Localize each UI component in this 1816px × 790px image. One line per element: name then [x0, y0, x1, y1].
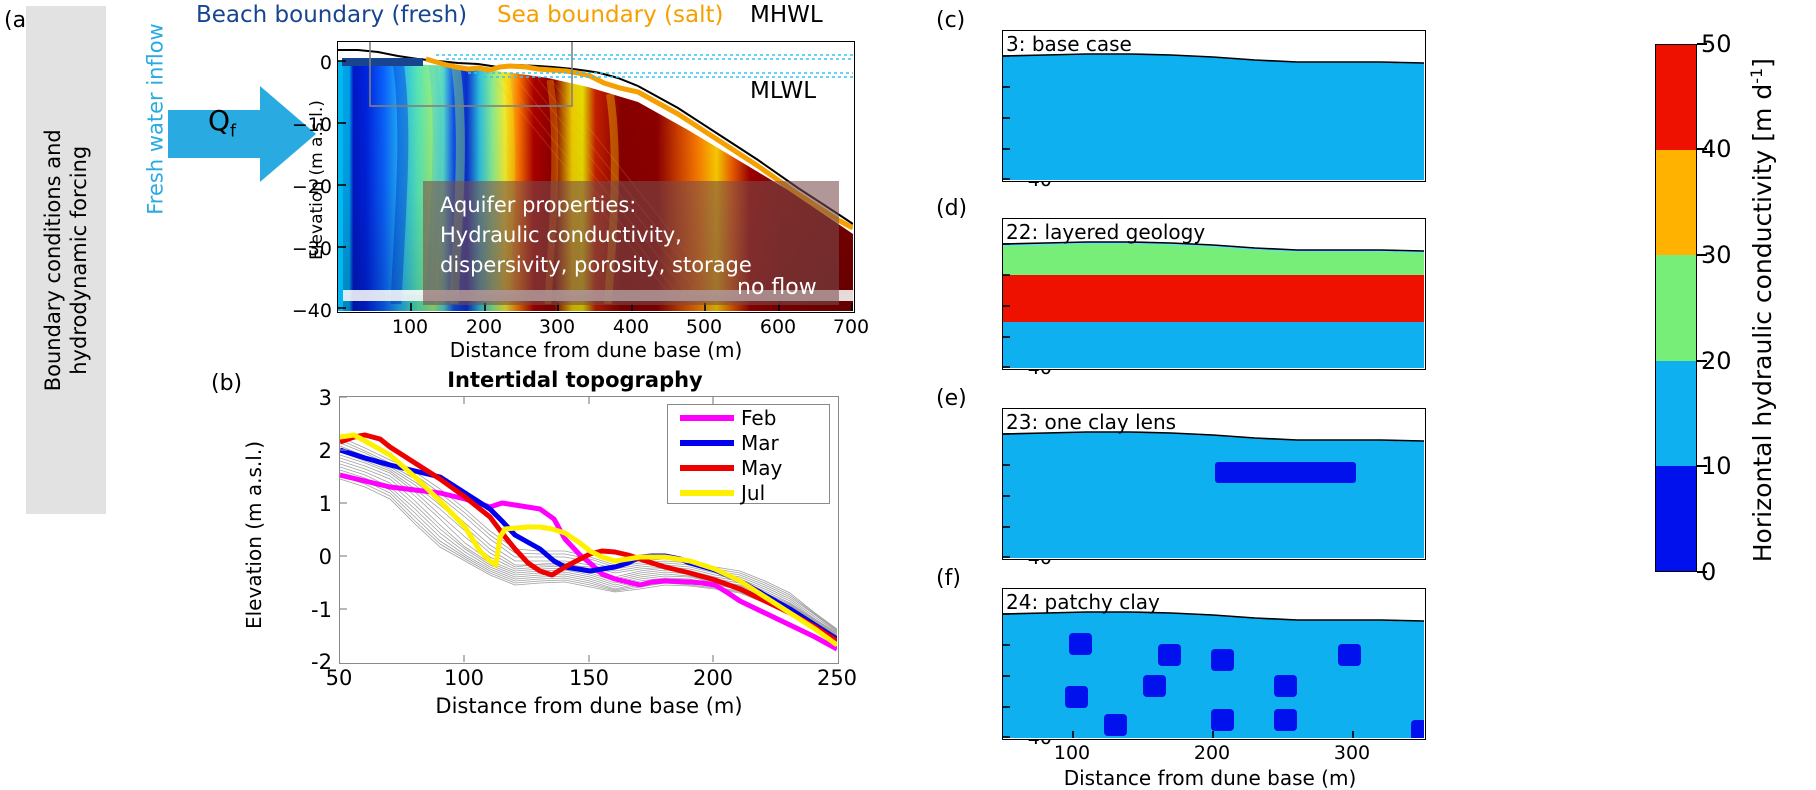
legend-item[interactable]: May — [668, 455, 829, 480]
no-flow-label: no flow — [737, 275, 817, 300]
panel-b-ytick: 3 — [284, 386, 332, 410]
panel-a-xtick: 400 — [601, 316, 661, 338]
legend-item[interactable]: Mar — [668, 430, 829, 455]
colorbar-tick: 10 — [1701, 452, 1732, 480]
panel-d-scenario-tag: 22: layered geology — [1006, 220, 1205, 244]
panel-b-ytick-group: 3 2 1 0 -1 -2 — [276, 396, 332, 664]
panel-b-xtick: 200 — [681, 666, 745, 690]
aquifer-overlay-line1: Aquifer properties: — [440, 191, 839, 221]
panel-c-scenario-tag: 3: base case — [1006, 32, 1132, 56]
panel-b-xlabel: Distance from dune base (m) — [389, 694, 789, 718]
panel-f-xtick-group: 100 200 300 — [1002, 742, 1426, 768]
clay-patch — [1065, 686, 1088, 708]
panel-a-ytick: −40 — [288, 300, 332, 322]
panel-f-xtick: 200 — [1182, 742, 1242, 764]
legend-swatch-may — [680, 465, 734, 471]
legend-label: May — [741, 456, 782, 480]
panel-f-plot-area: 24: patchy clay — [1002, 588, 1426, 740]
panel-b-ylabel: Elevation (m a.s.l.) — [240, 420, 268, 650]
clay-patch — [1143, 675, 1166, 697]
panel-a-ytick-group: 0 −10 −20 −30 −40 — [280, 41, 332, 313]
colorbar-tick: 50 — [1701, 30, 1732, 58]
panel-b-ytick: 0 — [284, 545, 332, 569]
clay-patch — [1274, 675, 1297, 697]
fresh-water-inflow-text: Fresh water inflow — [144, 23, 168, 214]
panel-b-title: Intertidal topography — [365, 368, 785, 392]
legend-item[interactable]: Jul — [668, 480, 829, 505]
panel-c-letter: (c) — [936, 8, 965, 33]
clay-patch — [1158, 644, 1181, 666]
panel-b-legend: Feb Mar May Jul — [667, 404, 830, 504]
panel-d-letter: (d) — [936, 196, 967, 221]
panel-b-ylabel-text: Elevation (m a.s.l.) — [242, 441, 266, 629]
panel-a-xtick: 300 — [527, 316, 587, 338]
legend-swatch-mar — [680, 440, 734, 446]
clay-patch — [1211, 649, 1234, 671]
panel-a-xtick: 500 — [674, 316, 734, 338]
panel-b-ytick: 2 — [284, 439, 332, 463]
panel-f-xtick: 100 — [1042, 742, 1102, 764]
panel-d-plot-area: 22: layered geology — [1002, 218, 1426, 370]
panel-a-xtick: 700 — [821, 316, 881, 338]
colorbar-tick-group: 50 40 30 20 10 0 — [1655, 44, 1755, 572]
colorbar-label-main: Horizontal hydraulic conductivity [m d — [1748, 84, 1777, 562]
panel-f-xtick: 300 — [1322, 742, 1382, 764]
legend-item[interactable]: Feb — [668, 405, 829, 430]
aquifer-overlay-line2: Hydraulic conductivity, — [440, 221, 839, 251]
panel-b-xtick: 250 — [805, 666, 869, 690]
clay-patch — [1211, 709, 1234, 731]
panel-c-plot-area: 3: base case — [1002, 30, 1426, 182]
colorbar-tick: 0 — [1701, 558, 1716, 586]
colorbar-label-exponent: -1 — [1747, 68, 1766, 84]
legend-swatch-jul — [680, 490, 734, 496]
panel-f-scenario-tag: 24: patchy clay — [1006, 590, 1160, 614]
panel-e-scenario-tag: 23: one clay lens — [1006, 410, 1176, 434]
panel-b-xtick: 100 — [432, 666, 496, 690]
inflow-symbol-q: Q — [208, 104, 230, 137]
clay-patch — [1104, 714, 1127, 736]
panel-a-xtick: 600 — [748, 316, 808, 338]
panel-b-xtick-group: 50 100 150 200 250 — [339, 666, 839, 694]
beach-boundary-label: Beach boundary (fresh) — [196, 2, 467, 28]
panel-a-ytick: −30 — [288, 238, 332, 260]
panel-f-xlabel: Distance from dune base (m) — [1000, 766, 1420, 790]
panel-a-xtick: 200 — [454, 316, 514, 338]
colorbar-label-tail: ] — [1748, 58, 1777, 68]
legend-label: Feb — [741, 406, 776, 430]
legend-label: Mar — [741, 431, 779, 455]
panel-e-letter: (e) — [936, 386, 967, 411]
sea-boundary-label: Sea boundary (salt) — [497, 2, 724, 28]
panel-a-ytick: −20 — [288, 176, 332, 198]
panel-f-letter: (f) — [936, 566, 961, 591]
clay-patch — [1069, 633, 1092, 655]
panel-b-xtick: 150 — [557, 666, 621, 690]
side-caption-line2: hydrodynamic forcing — [67, 146, 91, 375]
side-caption-line1: Boundary conditions and — [41, 129, 65, 391]
legend-label: Jul — [741, 481, 765, 505]
inflow-symbol: Qf — [208, 104, 236, 142]
inflow-symbol-sub: f — [230, 122, 236, 142]
panel-b-letter: (b) — [211, 371, 242, 396]
panel-e-plot-area: 23: one clay lens — [1002, 408, 1426, 560]
colorbar-label: Horizontal hydraulic conductivity [m d-1… — [1742, 40, 1782, 580]
clay-patch — [1338, 644, 1361, 666]
boundary-conditions-caption-block: Boundary conditions and hydrodynamic for… — [26, 6, 106, 514]
mhwl-label: MHWL — [750, 2, 823, 28]
clay-patch — [1274, 709, 1297, 731]
colorbar-tick: 20 — [1701, 347, 1732, 375]
legend-swatch-feb — [680, 415, 734, 421]
panel-a-ytick: −10 — [288, 114, 332, 136]
panel-b-ytick: -1 — [284, 598, 332, 622]
colorbar-tick: 30 — [1701, 241, 1732, 269]
panel-a-ytick: 0 — [288, 52, 332, 74]
panel-a-xtick: 100 — [380, 316, 440, 338]
panel-b-xtick: 50 — [307, 666, 371, 690]
clay-patch — [1411, 720, 1424, 738]
panel-a-xlabel: Distance from dune base (m) — [406, 338, 786, 362]
panel-b-ytick: 1 — [284, 492, 332, 516]
colorbar-tick: 40 — [1701, 135, 1732, 163]
